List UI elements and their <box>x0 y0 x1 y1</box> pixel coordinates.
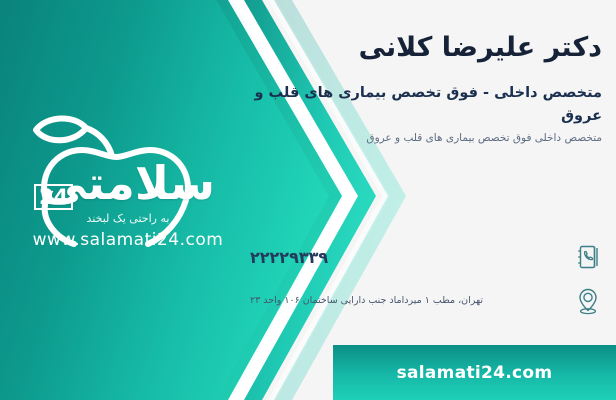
doctor-specialty: متخصص داخلی - فوق تخصص بیماری های قلب و … <box>250 82 602 127</box>
doctor-name: دکتر علیرضا کلانی <box>250 30 602 66</box>
phone-number: ۲۲۲۲۹۳۳۹ <box>250 248 564 267</box>
doctor-specialty-secondary: متخصص داخلی فوق تخصص بیماری های قلب و عر… <box>250 131 602 147</box>
website-footer-text: salamati24.com <box>397 363 553 383</box>
clinic-address: تهران، مطب ۱ میرداماد جنب دارایی ساختمان… <box>250 294 564 308</box>
contact-row-phone[interactable]: ۲۲۲۲۹۳۳۹ <box>250 242 602 272</box>
phone-book-icon <box>574 242 602 272</box>
contact-row-address[interactable]: تهران، مطب ۱ میرداماد جنب دارایی ساختمان… <box>250 286 602 316</box>
map-pin-icon <box>574 286 602 316</box>
contact-list: ۲۲۲۲۹۳۳۹ تهران، مطب ۱ میرداماد جنب دارای… <box>250 242 602 330</box>
business-card: سلامتی 24 به راحتی یک لبخند www.salamati… <box>0 0 616 400</box>
doctor-info-block: دکتر علیرضا کلانی متخصص داخلی - فوق تخصص… <box>250 30 602 147</box>
website-footer-bar[interactable]: salamati24.com <box>333 345 616 400</box>
